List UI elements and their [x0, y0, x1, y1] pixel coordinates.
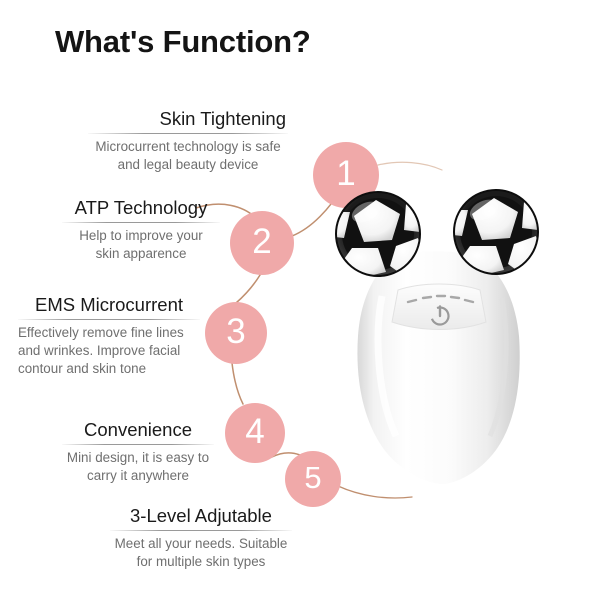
feature-block-4: Convenience Mini design, it is easy to c… — [62, 419, 214, 485]
feature-divider-4 — [62, 444, 214, 445]
control-panel — [392, 284, 486, 330]
feature-heading-1: Skin Tightening — [88, 108, 288, 129]
page-title: What's Function? — [55, 24, 311, 60]
feature-description-5: Meet all your needs. Suitable for multip… — [110, 535, 292, 571]
feature-heading-3: EMS Microcurrent — [18, 294, 200, 315]
feature-description-4: Mini design, it is easy to carry it anyw… — [62, 449, 214, 485]
feature-heading-2: ATP Technology — [62, 197, 220, 218]
infographic-canvas: What's Function? Skin Tightening Microcu… — [0, 0, 600, 600]
feature-block-3: EMS Microcurrent Effectively remove fine… — [18, 294, 200, 378]
step-number-3: 3 — [205, 302, 267, 364]
feature-block-5: 3-Level Adjutable Meet all your needs. S… — [110, 505, 292, 571]
feature-divider-3 — [18, 319, 200, 320]
feature-description-1: Microcurrent technology is safe and lega… — [88, 138, 288, 174]
feature-block-1: Skin Tightening Microcurrent technology … — [88, 108, 288, 174]
feature-description-3: Effectively remove fine lines and wrinke… — [18, 324, 200, 377]
step-number-2: 2 — [230, 211, 294, 275]
device-illustration — [330, 186, 545, 491]
feature-divider-5 — [110, 530, 292, 531]
product-device-image — [330, 186, 545, 491]
feature-heading-5: 3-Level Adjutable — [110, 505, 292, 526]
feature-heading-4: Convenience — [62, 419, 214, 440]
step-number-4: 4 — [225, 403, 285, 463]
feature-divider-1 — [88, 133, 288, 134]
feature-divider-2 — [62, 222, 220, 223]
feature-description-2: Help to improve your skin apparence — [62, 227, 220, 263]
feature-block-2: ATP Technology Help to improve your skin… — [62, 197, 220, 263]
